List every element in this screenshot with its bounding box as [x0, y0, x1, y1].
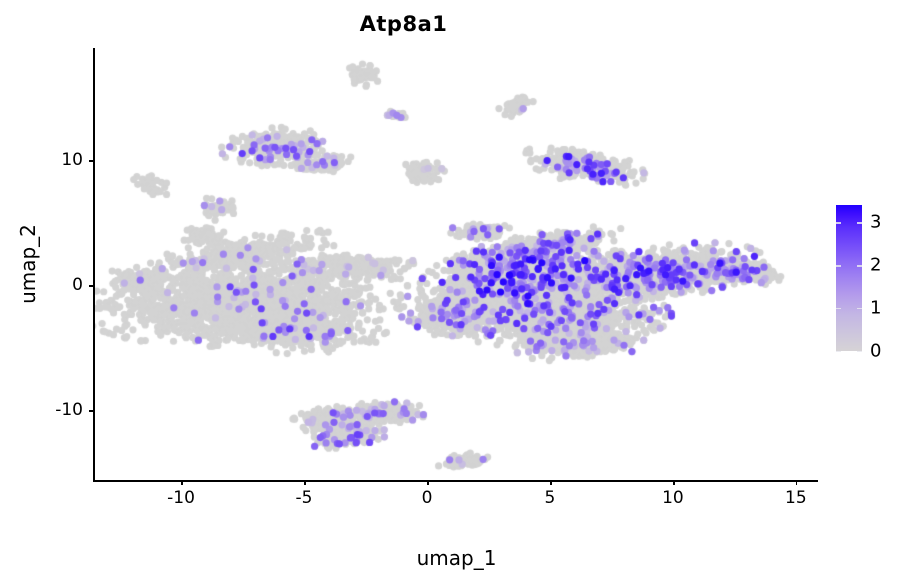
- scatter-point-cloud: [95, 48, 818, 480]
- x-axis-label: umap_1: [95, 546, 818, 570]
- x-tick-mark: [673, 480, 675, 485]
- x-axis-spine: [93, 480, 818, 482]
- colorbar-tick-mark: [836, 351, 841, 352]
- colorbar: 3210: [836, 205, 862, 351]
- y-tick-label: -10: [55, 400, 83, 420]
- y-axis-label: umap_2: [16, 224, 40, 304]
- x-tick-label: 10: [662, 488, 684, 508]
- colorbar-tick-mark: [836, 308, 841, 309]
- x-tick-mark: [550, 480, 552, 485]
- y-tick-label: 10: [61, 150, 83, 170]
- x-tick-mark: [796, 480, 798, 485]
- x-tick-label: 15: [785, 488, 807, 508]
- colorbar-gradient: [836, 205, 862, 351]
- colorbar-tick-mark: [857, 265, 862, 266]
- y-tick-mark: [89, 285, 95, 287]
- x-tick-mark: [181, 480, 183, 485]
- colorbar-tick-mark: [836, 265, 841, 266]
- plot-axes: -10-5051015 100-10 umap_1 umap_2: [95, 48, 818, 480]
- y-tick-mark: [89, 160, 95, 162]
- x-tick-mark: [427, 480, 429, 485]
- umap-feature-plot: Atp8a1 -10-5051015 100-10 umap_1 umap_2 …: [0, 0, 911, 562]
- x-tick-label: 0: [422, 488, 433, 508]
- colorbar-tick-mark: [857, 222, 862, 223]
- page-title: Atp8a1: [0, 12, 859, 36]
- colorbar-tick-mark: [857, 351, 862, 352]
- colorbar-tick-label: 1: [870, 298, 881, 319]
- x-tick-label: 5: [545, 488, 556, 508]
- x-tick-label: -10: [167, 488, 195, 508]
- colorbar-tick-mark: [857, 308, 862, 309]
- x-tick-label: -5: [296, 488, 313, 508]
- colorbar-tick-mark: [836, 222, 841, 223]
- colorbar-tick-label: 2: [870, 255, 881, 276]
- colorbar-tick-label: 3: [870, 212, 881, 233]
- colorbar-tick-label: 0: [870, 341, 881, 362]
- y-tick-label: 0: [72, 275, 83, 295]
- x-tick-mark: [304, 480, 306, 485]
- y-tick-mark: [89, 410, 95, 412]
